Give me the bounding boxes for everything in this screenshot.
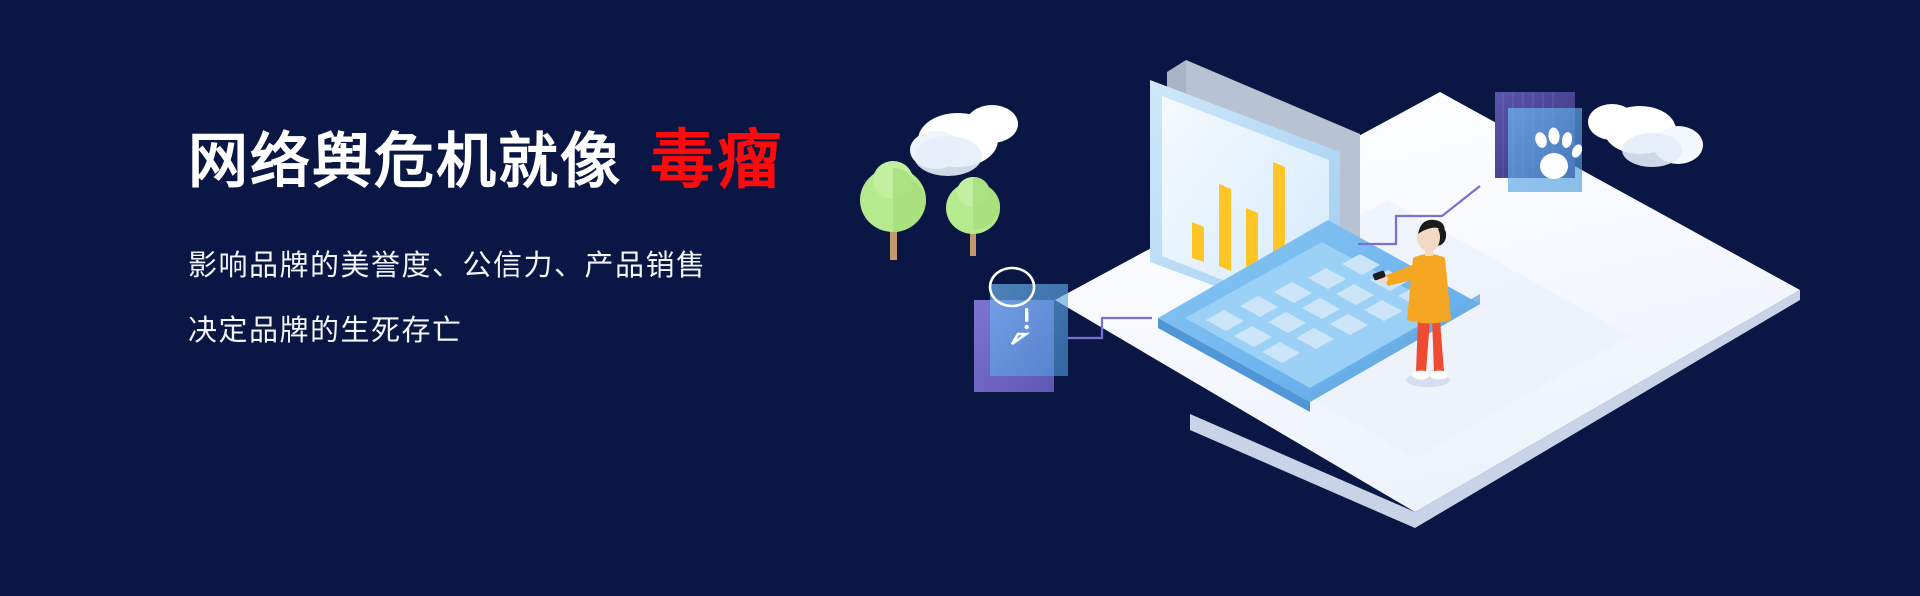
hero-copy: 网络舆危机就像 毒瘤 影响品牌的美誉度、公信力、产品销售 决定品牌的生死存亡 <box>188 128 948 346</box>
alert-panel <box>974 268 1068 392</box>
isometric-laptop-illustration <box>840 0 1920 596</box>
paw-panel <box>1495 92 1584 192</box>
page-title: 网络舆危机就像 毒瘤 <box>188 128 948 192</box>
hero-banner: 网络舆危机就像 毒瘤 影响品牌的美誉度、公信力、产品销售 决定品牌的生死存亡 <box>0 0 1920 596</box>
headline-accent-text: 毒瘤 <box>650 128 784 192</box>
tree-icon-right <box>946 177 1000 256</box>
subtitle-line-2: 决定品牌的生死存亡 <box>188 317 948 346</box>
hero-subtitle: 影响品牌的美誉度、公信力、产品销售 决定品牌的生死存亡 <box>188 252 948 346</box>
cloud-icon-right <box>1588 104 1703 167</box>
subtitle-line-1: 影响品牌的美誉度、公信力、产品销售 <box>188 252 948 281</box>
headline-main-text: 网络舆危机就像 <box>188 132 622 192</box>
